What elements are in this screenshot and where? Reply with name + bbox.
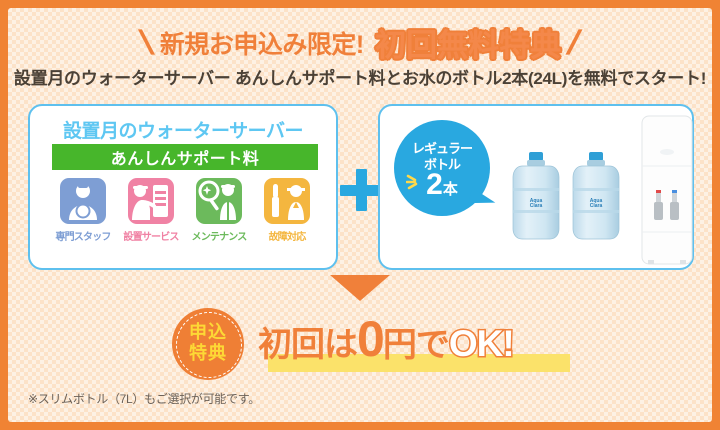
bubble-count-number: 2 [426,168,443,201]
repair-support-icon [264,178,310,224]
plus-icon [340,169,382,211]
staff-person-icon [60,178,106,224]
bottle-count-bubble: レギュラー ボトル 2本 [394,120,490,216]
svg-text:Clara: Clara [590,203,603,209]
service-card-left: 設置月のウォーターサーバー あんしんサポート料 専門スタッフ [28,104,338,270]
left-card-title: 設置月のウォーターサーバー [30,116,336,143]
offer-ok: OK! [449,323,514,364]
offer-text: 初回は0円でOK! [258,312,578,372]
headline-lead-text: 新規お申込み限定! [156,25,368,61]
headline-slash-right: / [563,26,584,60]
badge-line1: 申込 [172,322,244,343]
offer-prefix: 初回は [258,326,357,364]
maintenance-inspection-icon [196,178,242,224]
offer-middle: で [416,326,449,364]
support-fee-bar: あんしんサポート料 [52,144,318,170]
service-label-repair: 故障対応 [256,228,318,243]
svg-text:Clara: Clara [530,203,543,209]
service-label-installation: 設置サービス [120,228,182,243]
water-bottle: Aqua Clara [568,152,624,240]
service-label-maintenance: メンテナンス [188,228,250,243]
installation-service-icon [128,178,174,224]
offer-badge: 申込 特典 [172,308,244,380]
offer-amount: 0 [357,311,383,367]
headline-emphasis-text: 初回無料特典 [372,20,564,65]
headline-slash-left: \ [136,26,157,60]
service-item-installation: 設置サービス [120,178,182,256]
offer-statement: 初回は0円でOK! [258,312,578,374]
down-arrow-icon [330,275,390,301]
product-card-right: レギュラー ボトル 2本 Aqua Clara [378,104,694,270]
service-item-repair: 故障対応 [256,178,318,256]
water-bottle: Aqua Clara [508,152,564,240]
promotional-banner: \ 新規お申込み限定! 初回無料特典 / 設置月のウォーターサーバー あんしんサ… [0,0,720,430]
offer-currency: 円 [383,326,416,364]
service-icon-row: 専門スタッフ 設置サービス [52,178,318,256]
badge-line2: 特典 [172,343,244,364]
bubble-count-unit: 本 [443,181,458,198]
subtitle-text: 設置月のウォーターサーバー あんしんサポート料とお水のボトル2本(24L)を無料… [0,64,720,89]
service-label-staff: 専門スタッフ [52,228,114,243]
water-server-dispenser [638,114,696,266]
headline: \ 新規お申込み限定! 初回無料特典 / [0,20,720,65]
bubble-count: 2本 [394,170,490,200]
footnote-text: ※スリムボトル（7L）もご選択が可能です。 [28,390,260,407]
service-item-maintenance: メンテナンス [188,178,250,256]
service-item-staff: 専門スタッフ [52,178,114,256]
